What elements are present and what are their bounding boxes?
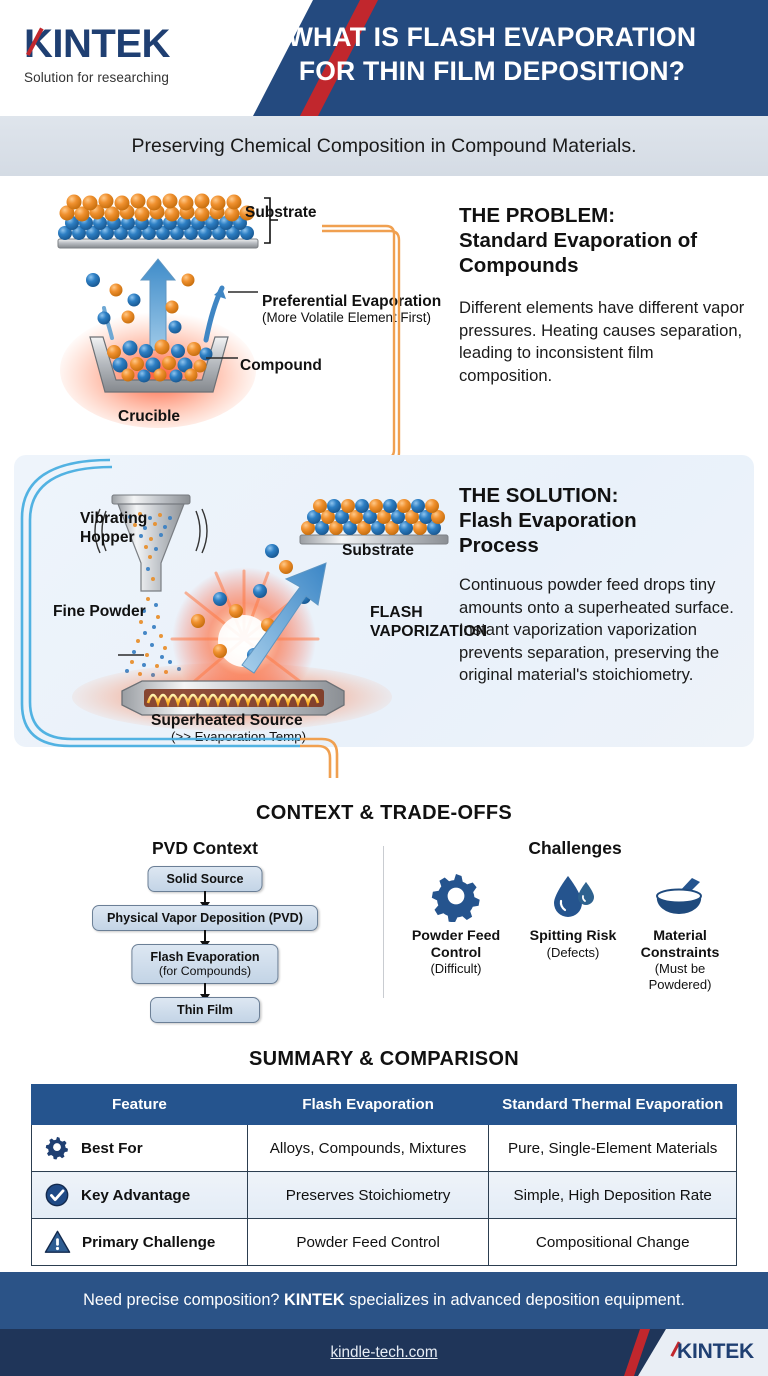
problem-kicker-line1: THE PROBLEM: — [459, 203, 749, 228]
subtitle-text: Preserving Chemical Composition in Compo… — [131, 135, 636, 158]
solution-section: Vibrating Hopper Fine Powder Substrate F… — [14, 455, 754, 747]
logo-mark: KINTEK — [18, 22, 218, 68]
label-superheated-source: Superheated Source — [151, 712, 303, 730]
challenge-powder-feed-control: Powder Feed Control (Difficult) — [398, 870, 514, 977]
label-preferential-evaporation-sub: (More Volatile Element First) — [262, 310, 431, 325]
label-hopper-line1: Vibrating — [80, 509, 147, 528]
solution-kicker-line3: Process — [459, 533, 749, 558]
label-fine-powder: Fine Powder — [53, 603, 146, 621]
challenge-3-label-line1: Material — [622, 928, 738, 945]
footer-bar: kindle-tech.com KINTEK — [0, 1329, 768, 1376]
warning-triangle-icon — [44, 1229, 71, 1255]
cta-brand: KINTEK — [284, 1291, 345, 1309]
flow-arrow-2 — [204, 930, 206, 942]
flow-node-solid-source-label: Solid Source — [167, 872, 244, 886]
flow-node-pvd-label: Physical Vapor Deposition (PVD) — [107, 911, 303, 925]
challenge-spitting-risk: Spitting Risk (Defects) — [515, 870, 631, 960]
challenges-title: Challenges — [400, 838, 750, 859]
solution-body: Continuous powder feed drops tiny amount… — [459, 574, 749, 687]
col-header-standard: Standard Thermal Evaporation — [489, 1085, 737, 1125]
row-1-standard-cell: Pure, Single-Element Materials — [489, 1125, 737, 1172]
flow-node-thin-film[interactable]: Thin Film — [150, 997, 260, 1023]
label-substrate-solution: Substrate — [342, 542, 414, 560]
problem-section: Substrate Preferential Evaporation (More… — [0, 176, 768, 455]
label-substrate: Substrate — [245, 204, 317, 222]
gear-icon — [428, 870, 484, 922]
challenge-2-label-line1: Spitting Risk — [515, 928, 631, 945]
label-compound: Compound — [240, 357, 322, 375]
row-2-flash-cell: Preserves Stoichiometry — [247, 1172, 489, 1219]
label-hopper-line2: Hopper — [80, 528, 147, 547]
pvd-flowchart: Solid Source Physical Vapor Deposition (… — [60, 866, 350, 1016]
row-1-feature-label: Best For — [81, 1140, 143, 1157]
challenge-3-label-line2: Constraints — [622, 945, 738, 962]
gear-icon — [44, 1135, 70, 1161]
comparison-table: Feature Flash Evaporation Standard Therm… — [31, 1084, 737, 1266]
row-2-feature-label: Key Advantage — [81, 1187, 190, 1204]
table-row: Primary Challenge Powder Feed Control Co… — [32, 1219, 737, 1266]
flow-node-flash-evaporation-sub: (for Compounds) — [159, 964, 251, 978]
page-title: WHAT IS FLASH EVAPORATION FOR THIN FILM … — [228, 20, 756, 88]
row-2-feature-cell: Key Advantage — [32, 1172, 248, 1219]
header: KINTEK Solution for researching WHAT IS … — [0, 0, 768, 116]
row-2-standard-cell: Simple, High Deposition Rate — [489, 1172, 737, 1219]
flow-arrow-1 — [204, 891, 206, 903]
challenge-1-label-line2: Control — [398, 945, 514, 962]
cta-bar: Need precise composition? KINTEK special… — [0, 1272, 768, 1329]
context-section-title: CONTEXT & TRADE-OFFS — [0, 802, 768, 825]
row-3-flash-cell: Powder Feed Control — [247, 1219, 489, 1266]
col-header-flash: Flash Evaporation — [247, 1085, 489, 1125]
solution-text-block: THE SOLUTION: Flash Evaporation Process … — [459, 483, 749, 687]
context-divider — [383, 846, 384, 998]
challenge-2-sub: (Defects) — [515, 945, 631, 961]
table-row: Key Advantage Preserves Stoichiometry Si… — [32, 1172, 737, 1219]
logo-wordmark: KINTEK — [18, 22, 218, 66]
page-title-line1: WHAT IS FLASH EVAPORATION — [228, 20, 756, 54]
mortar-pestle-icon — [648, 870, 712, 922]
table-row: Best For Alloys, Compounds, Mixtures Pur… — [32, 1125, 737, 1172]
flow-node-pvd[interactable]: Physical Vapor Deposition (PVD) — [92, 905, 318, 931]
challenge-1-label-line1: Powder Feed — [398, 928, 514, 945]
label-preferential-evaporation: Preferential Evaporation — [262, 293, 441, 310]
page-title-line2: FOR THIN FILM DEPOSITION? — [228, 54, 756, 88]
problem-kicker-line2: Standard Evaporation of — [459, 228, 749, 253]
cta-suffix: specializes in advanced deposition equip… — [345, 1291, 685, 1309]
problem-body: Different elements have different vapor … — [459, 297, 749, 387]
brand-logo: KINTEK Solution for researching — [18, 22, 218, 85]
droplet-icon — [545, 870, 601, 922]
summary-section-title: SUMMARY & COMPARISON — [0, 1048, 768, 1071]
cta-prefix: Need precise composition? — [83, 1291, 284, 1309]
subtitle-bar: Preserving Chemical Composition in Compo… — [0, 116, 768, 176]
footer-logo-wordmark: KINTEK — [677, 1340, 754, 1364]
logo-tagline: Solution for researching — [18, 70, 218, 85]
flow-node-flash-evaporation-label: Flash Evaporation — [150, 950, 259, 964]
row-3-standard-cell: Compositional Change — [489, 1219, 737, 1266]
solution-kicker-line2: Flash Evaporation — [459, 508, 749, 533]
row-1-flash-cell: Alloys, Compounds, Mixtures — [247, 1125, 489, 1172]
flow-node-flash-evaporation[interactable]: Flash Evaporation (for Compounds) — [131, 944, 278, 984]
solution-kicker-line1: THE SOLUTION: — [459, 483, 749, 508]
table-header-row: Feature Flash Evaporation Standard Therm… — [32, 1085, 737, 1125]
summary-section: SUMMARY & COMPARISON Feature Flash Evapo… — [0, 1040, 768, 1265]
check-circle-icon — [44, 1182, 70, 1208]
flow-node-thin-film-label: Thin Film — [177, 1003, 233, 1017]
problem-text-block: THE PROBLEM: Standard Evaporation of Com… — [459, 203, 749, 387]
label-superheated-source-sub: (>> Evaporation Temp) — [171, 729, 306, 744]
challenge-1-sub: (Difficult) — [398, 961, 514, 977]
pvd-context-title: PVD Context — [60, 838, 350, 859]
infographic-page: KINTEK Solution for researching WHAT IS … — [0, 0, 768, 1376]
challenge-material-constraints: Material Constraints (Must be Powdered) — [622, 870, 738, 992]
row-3-feature-cell: Primary Challenge — [32, 1219, 248, 1266]
flow-arrow-3 — [204, 983, 206, 995]
flow-node-solid-source[interactable]: Solid Source — [148, 866, 263, 892]
cta-text: Need precise composition? KINTEK special… — [83, 1291, 685, 1310]
row-3-feature-label: Primary Challenge — [82, 1234, 215, 1251]
label-crucible: Crucible — [118, 408, 180, 426]
context-section: CONTEXT & TRADE-OFFS PVD Context Solid S… — [0, 790, 768, 1040]
label-vibrating-hopper: Vibrating Hopper — [80, 509, 147, 547]
challenge-3-sub: (Must be Powdered) — [622, 961, 738, 992]
col-header-feature: Feature — [32, 1085, 248, 1125]
problem-kicker-line3: Compounds — [459, 253, 749, 278]
row-1-feature-cell: Best For — [32, 1125, 248, 1172]
